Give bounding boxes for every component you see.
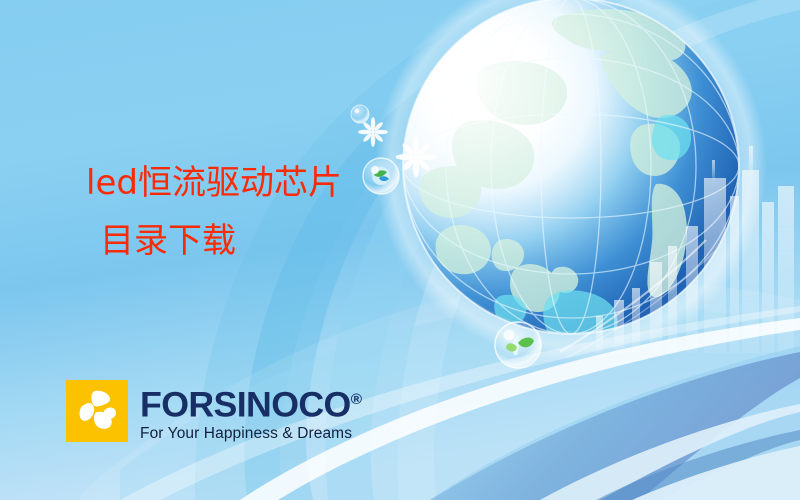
registered-mark: ® <box>351 391 362 408</box>
headline-line-1: led恒流驱动芯片 <box>86 160 506 206</box>
logo-mark-icon <box>66 380 128 442</box>
poster-canvas: led恒流驱动芯片 目录下载 FORSINOCO® For Your Happi… <box>0 0 800 500</box>
brand-name: FORSINOCO® <box>140 382 361 424</box>
brand-name-text: FORSINOCO <box>140 386 351 425</box>
page-title: led恒流驱动芯片 目录下载 <box>86 160 506 264</box>
bubble-small <box>351 105 369 123</box>
bubble-leaf <box>495 322 541 368</box>
headline-line-2: 目录下载 <box>86 218 506 264</box>
brand-wordmark: FORSINOCO® For Your Happiness & Dreams <box>140 382 357 443</box>
brand-logo: FORSINOCO® For Your Happiness & Dreams <box>66 380 357 443</box>
brand-tagline: For Your Happiness & Dreams <box>140 425 357 443</box>
